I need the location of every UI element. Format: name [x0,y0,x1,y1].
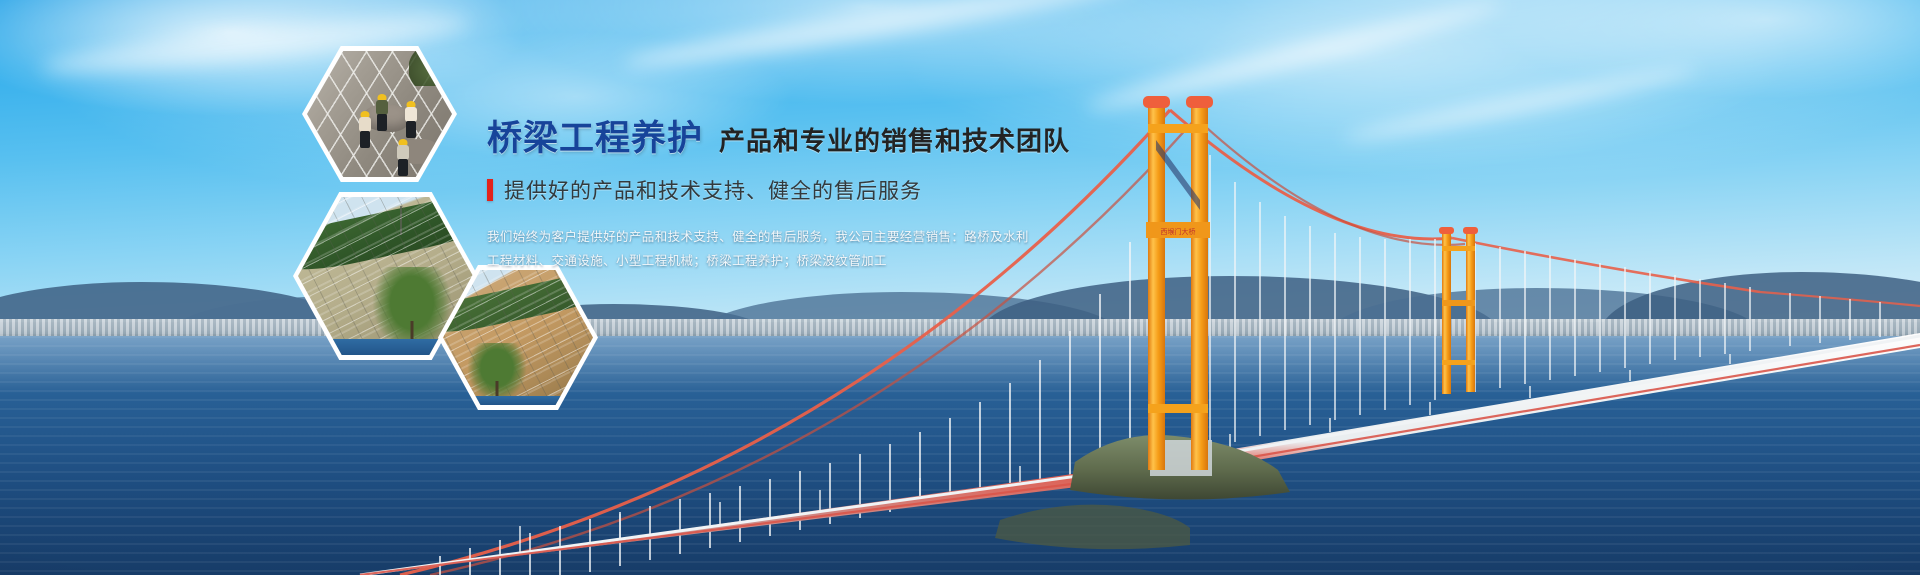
description-line-1: 我们始终为客户提供好的产品和技术支持、健全的售后服务，我公司主要经营销售：路桥及… [487,225,1127,249]
description-line-2: 工程材料、交通设施、小型工程机械；桥梁工程养护；桥梁波纹管加工 [487,249,1127,273]
sea-horizon-glow [0,336,1920,394]
description-paragraph: 我们始终为客户提供好的产品和技术支持、健全的售后服务，我公司主要经营销售：路桥及… [487,225,1127,274]
banner-copy: 桥梁工程养护 产品和专业的销售和技术团队 提供好的产品和技术支持、健全的售后服务… [487,121,1127,274]
accent-bar [487,179,493,201]
subheadline-text: 提供好的产品和技术支持、健全的售后服务 [504,175,922,205]
headline-row: 桥梁工程养护 产品和专业的销售和技术团队 [487,121,1127,156]
hex-photo-rockfall-netting[interactable] [302,46,457,182]
subheadline-row: 提供好的产品和技术支持、健全的售后服务 [487,175,1127,205]
headline-primary: 桥梁工程养护 [487,121,703,156]
hex-photo-hillside-greening[interactable] [438,265,598,410]
headline-secondary: 产品和专业的销售和技术团队 [719,128,1070,154]
hero-banner: 西堠门大桥 [0,0,1920,575]
